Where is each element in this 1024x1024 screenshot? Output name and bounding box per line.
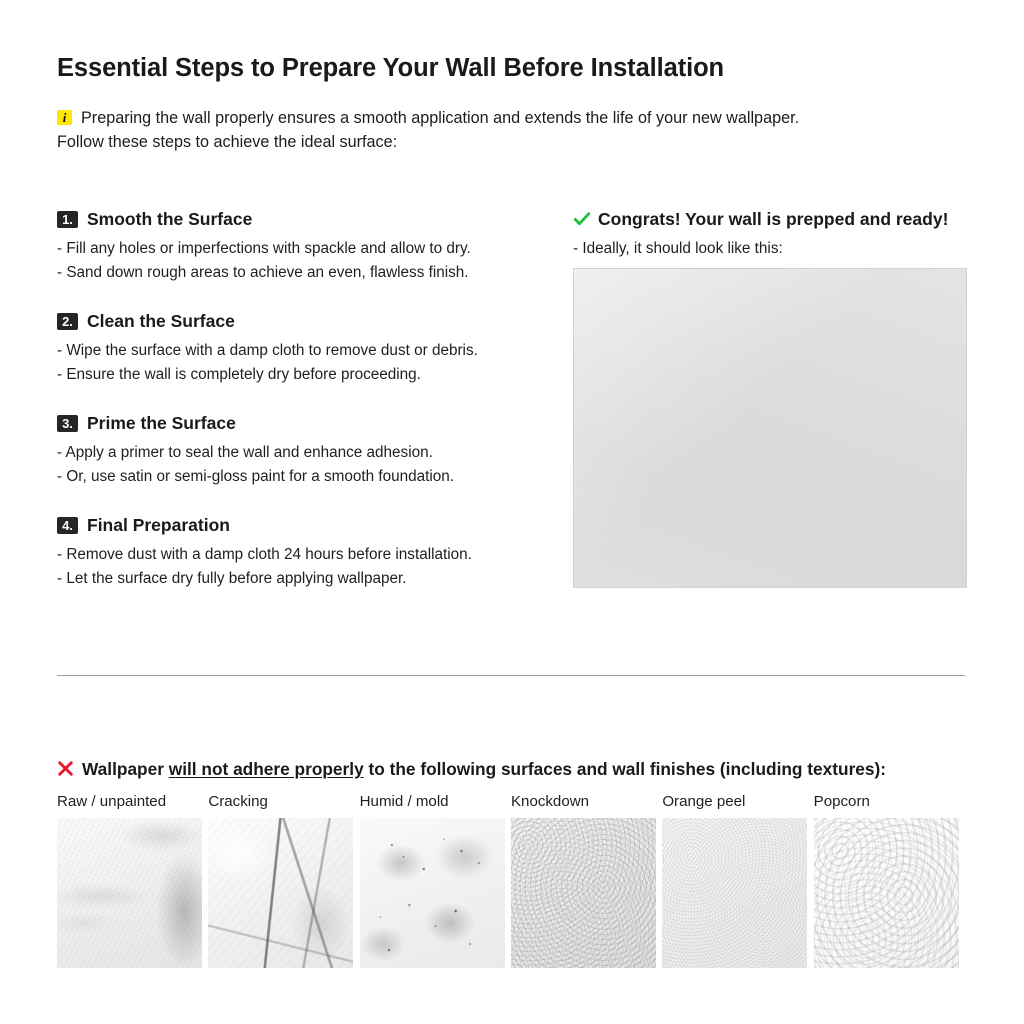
step-bullet: - Fill any holes or imperfections with s…: [57, 237, 557, 261]
knockdown-texture-image: [511, 818, 656, 968]
prepped-wall-image: [573, 268, 967, 588]
texture-label: Humid / mold: [360, 792, 511, 818]
texture-label: Orange peel: [662, 792, 813, 818]
success-column: Congrats! Your wall is prepped and ready…: [573, 208, 968, 261]
step-number-badge-4: 4.: [57, 517, 78, 534]
orange-peel-texture-image: [662, 818, 807, 968]
page-title: Essential Steps to Prepare Your Wall Bef…: [57, 54, 724, 83]
step-heading-4: 4.Final Preparation: [57, 514, 557, 536]
step-bullet: - Sand down rough areas to achieve an ev…: [57, 261, 557, 285]
step-title-1: Smooth the Surface: [87, 209, 252, 229]
warning-suffix: to the following surfaces and wall finis…: [364, 759, 886, 779]
red-x-icon: [57, 759, 74, 776]
step-number-badge-2: 2.: [57, 313, 78, 330]
step-title-3: Prime the Surface: [87, 413, 236, 433]
step-title-4: Final Preparation: [87, 515, 230, 535]
texture-label: Knockdown: [511, 792, 662, 818]
intro-paragraph: iPreparing the wall properly ensures a s…: [57, 106, 967, 154]
step-item-2: 2.Clean the Surface - Wipe the surface w…: [57, 310, 557, 386]
step-bullet: - Apply a primer to seal the wall and en…: [57, 441, 557, 465]
success-heading: Congrats! Your wall is prepped and ready…: [573, 208, 968, 230]
step-heading-3: 3.Prime the Surface: [57, 412, 557, 434]
texture-cell-humid-mold: Humid / mold: [360, 792, 511, 968]
step-heading-1: 1.Smooth the Surface: [57, 208, 557, 230]
texture-cell-cracking: Cracking: [208, 792, 359, 968]
step-item-3: 3.Prime the Surface - Apply a primer to …: [57, 412, 557, 488]
step-bullet: - Let the surface dry fully before apply…: [57, 567, 557, 591]
document-body: Essential Steps to Prepare Your Wall Bef…: [57, 0, 965, 1024]
step-item-4: 4.Final Preparation - Remove dust with a…: [57, 514, 557, 590]
raw-unpainted-texture-image: [57, 818, 202, 968]
step-number-badge-1: 1.: [57, 211, 78, 228]
texture-cell-knockdown: Knockdown: [511, 792, 662, 968]
warning-line: Wallpaper will not adhere properly to th…: [57, 757, 886, 781]
humid-mold-texture-image: [360, 818, 505, 968]
step-bullet: - Ensure the wall is completely dry befo…: [57, 363, 557, 387]
step-bullet: - Or, use satin or semi-gloss paint for …: [57, 465, 557, 489]
success-heading-text: Congrats! Your wall is prepped and ready…: [598, 209, 948, 229]
intro-line-2: Follow these steps to achieve the ideal …: [57, 133, 397, 151]
step-title-2: Clean the Surface: [87, 311, 235, 331]
step-bullet: - Wipe the surface with a damp cloth to …: [57, 339, 557, 363]
step-number-badge-3: 3.: [57, 415, 78, 432]
texture-cell-popcorn: Popcorn: [814, 792, 965, 968]
texture-label: Raw / unpainted: [57, 792, 208, 818]
section-divider: [57, 675, 965, 676]
warning-prefix: Wallpaper: [82, 759, 169, 779]
texture-cell-raw-unpainted: Raw / unpainted: [57, 792, 208, 968]
texture-label: Popcorn: [814, 792, 965, 818]
cracking-texture-image: [208, 818, 353, 968]
step-item-1: 1.Smooth the Surface - Fill any holes or…: [57, 208, 557, 284]
steps-column: 1.Smooth the Surface - Fill any holes or…: [57, 208, 557, 590]
info-icon: i: [57, 110, 72, 125]
success-subtext: - Ideally, it should look like this:: [573, 237, 968, 261]
popcorn-texture-image: [814, 818, 959, 968]
texture-gallery: Raw / unpainted Cracking Humid / mold Kn…: [57, 792, 965, 968]
step-bullet: - Remove dust with a damp cloth 24 hours…: [57, 543, 557, 567]
texture-label: Cracking: [208, 792, 359, 818]
green-check-icon: [573, 210, 591, 228]
step-heading-2: 2.Clean the Surface: [57, 310, 557, 332]
texture-cell-orange-peel: Orange peel: [662, 792, 813, 968]
intro-line-1: Preparing the wall properly ensures a sm…: [81, 109, 799, 127]
warning-emphasis: will not adhere properly: [169, 759, 364, 779]
